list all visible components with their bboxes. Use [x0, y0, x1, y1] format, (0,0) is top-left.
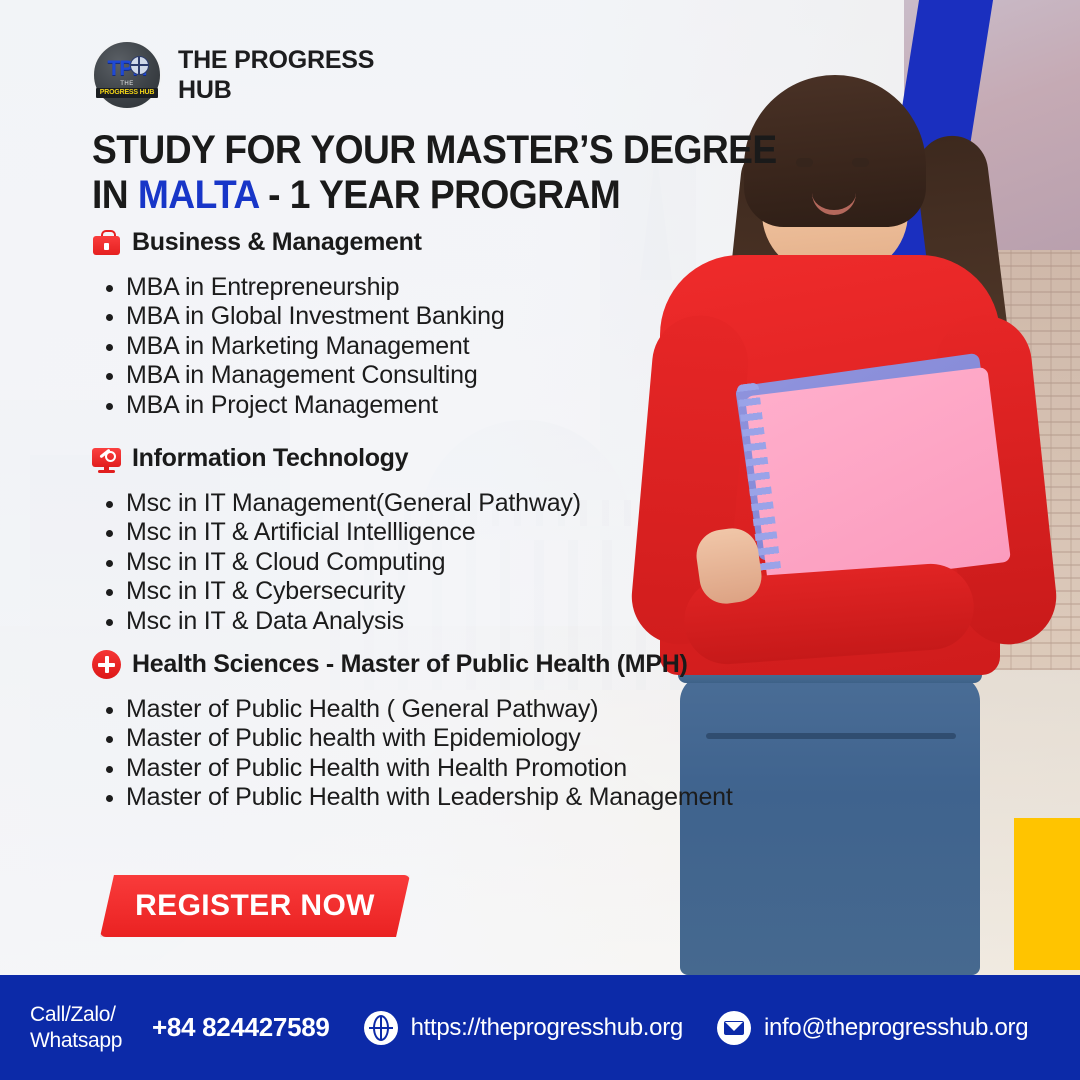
list-item: Msc in IT & Artificial Intellligence	[126, 518, 581, 547]
page-title: STUDY FOR YOUR MASTER’S DEGREE IN MALTA …	[92, 128, 780, 218]
email-address: info@theprogresshub.org	[764, 1014, 1028, 1042]
list-item: Msc in IT & Cybersecurity	[126, 577, 581, 606]
email-link[interactable]: info@theprogresshub.org	[717, 1011, 1028, 1045]
section-heading: Business & Management	[92, 228, 505, 257]
brand-name: THE PROGRESS HUB	[178, 45, 374, 106]
envelope-icon	[717, 1011, 751, 1045]
list-item: MBA in Marketing Management	[126, 332, 505, 361]
globe-icon	[364, 1011, 398, 1045]
contact-footer: Call/Zalo/ Whatsapp +84 824427589 https:…	[0, 975, 1080, 1080]
promo-poster: TPH THE PROGRESS HUB THE PROGRESS HUB ST…	[0, 0, 1080, 1080]
phone-number[interactable]: +84 824427589	[152, 1012, 330, 1043]
logo-subtitle: PROGRESS HUB	[96, 88, 158, 98]
list-item: Master of Public Health ( General Pathwa…	[126, 695, 733, 724]
register-now-button[interactable]: REGISTER NOW	[100, 875, 410, 937]
section-information-technology: Information Technology Msc in IT Managem…	[92, 444, 581, 636]
logo-the-text: THE	[120, 81, 134, 87]
medical-cross-icon	[92, 650, 121, 679]
register-now-label: REGISTER NOW	[135, 889, 375, 923]
globe-icon	[130, 56, 149, 75]
section-business-management: Business & Management MBA in Entrepreneu…	[92, 228, 505, 420]
section-heading: Information Technology	[92, 444, 581, 473]
list-item: Msc in IT Management(General Pathway)	[126, 489, 581, 518]
list-item: MBA in Global Investment Banking	[126, 302, 505, 331]
briefcase-icon	[92, 228, 121, 257]
headline-highlight: MALTA	[138, 173, 258, 217]
list-item: MBA in Project Management	[126, 391, 505, 420]
list-item: MBA in Management Consulting	[126, 361, 505, 390]
contact-channel-label: Call/Zalo/ Whatsapp	[30, 1002, 148, 1053]
program-list: MBA in Entrepreneurship MBA in Global In…	[92, 273, 505, 420]
website-link[interactable]: https://theprogresshub.org	[364, 1011, 683, 1045]
desktop-monitor-icon	[92, 444, 121, 473]
list-item: MBA in Entrepreneurship	[126, 273, 505, 302]
section-title: Business & Management	[132, 228, 422, 257]
program-list: Msc in IT Management(General Pathway) Ms…	[92, 489, 581, 636]
website-url: https://theprogresshub.org	[411, 1014, 683, 1042]
program-list: Master of Public Health ( General Pathwa…	[92, 695, 733, 813]
list-item: Master of Public Health with Health Prom…	[126, 754, 733, 783]
list-item: Msc in IT & Cloud Computing	[126, 548, 581, 577]
section-heading: Health Sciences - Master of Public Healt…	[92, 650, 733, 679]
list-item: Msc in IT & Data Analysis	[126, 607, 581, 636]
brand-name-line1: THE PROGRESS	[178, 46, 374, 74]
logo-badge: TPH THE PROGRESS HUB	[92, 40, 162, 110]
section-title: Information Technology	[132, 444, 408, 473]
headline-after: - 1 YEAR PROGRAM	[258, 173, 620, 217]
section-health-sciences: Health Sciences - Master of Public Healt…	[92, 650, 733, 813]
poster-content: TPH THE PROGRESS HUB THE PROGRESS HUB ST…	[0, 0, 1080, 1080]
brand-name-line2: HUB	[178, 76, 232, 104]
brand-lockup: TPH THE PROGRESS HUB THE PROGRESS HUB	[92, 40, 374, 110]
list-item: Master of Public health with Epidemiolog…	[126, 724, 733, 753]
section-title: Health Sciences - Master of Public Healt…	[132, 650, 687, 679]
list-item: Master of Public Health with Leadership …	[126, 783, 733, 812]
